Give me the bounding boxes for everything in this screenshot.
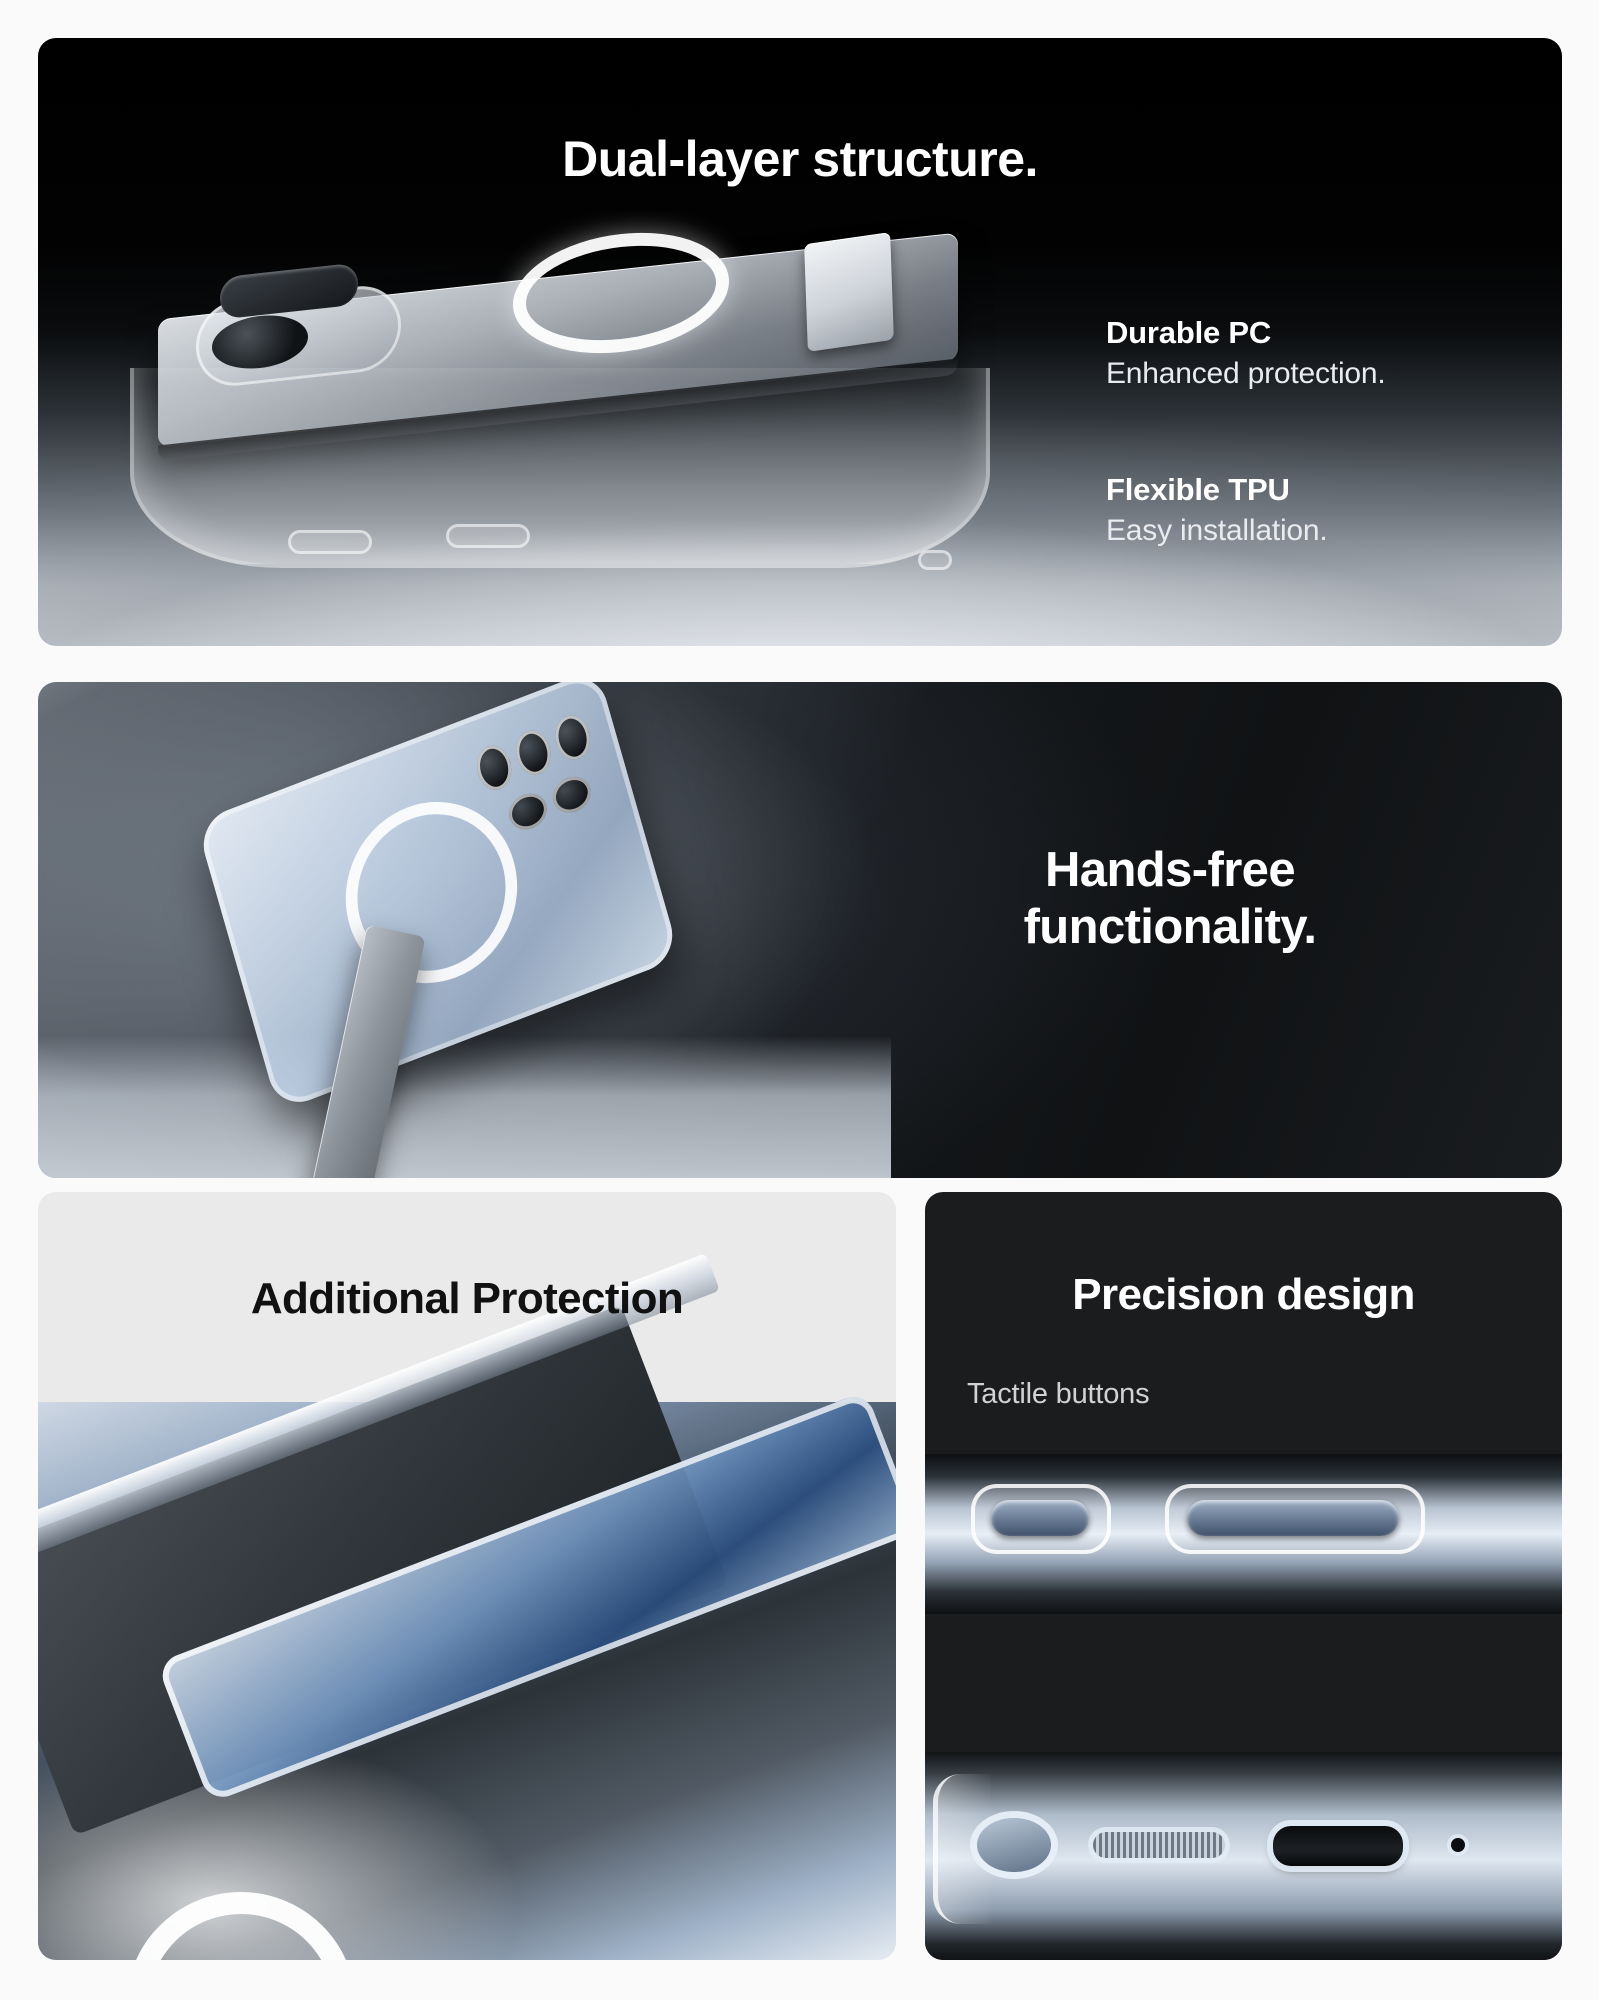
tpu-shell-illustration: [130, 368, 990, 568]
panel-precision-design: Precision design Tactile buttons Easy ac…: [925, 1192, 1562, 1960]
panel-additional-protection-title: Additional Protection: [38, 1274, 896, 1324]
side-cutout-oval: [977, 1818, 1051, 1872]
panel-additional-protection: Additional Protection: [38, 1192, 896, 1960]
feature-durable-pc-heading: Durable PC: [1106, 315, 1386, 352]
tpu-button-cutout-side: [918, 550, 952, 570]
microphone-hole-icon: [1451, 1838, 1465, 1852]
volume-button-illustration: [991, 1500, 1089, 1536]
tpu-button-cutout-power: [446, 524, 530, 548]
headline-line-2: functionality.: [820, 899, 1520, 956]
feature-flexible-tpu-description: Easy installation.: [1106, 513, 1328, 549]
easy-accessibility-photo: [925, 1752, 1562, 1960]
tactile-buttons-photo: [925, 1454, 1562, 1614]
label-tactile-buttons: Tactile buttons: [967, 1378, 1149, 1411]
panel-dual-layer-title: Dual-layer structure.: [38, 130, 1562, 188]
panel-dual-layer-structure: Dual-layer structure. Durable PC Enhance…: [38, 38, 1562, 646]
product-feature-collage: Dual-layer structure. Durable PC Enhance…: [0, 0, 1599, 2000]
tpu-button-cutout-volume: [288, 530, 372, 554]
power-button-illustration: [1187, 1500, 1399, 1536]
kickstand-illustration: [804, 232, 894, 352]
panel-hands-free-headline: Hands-free functionality.: [820, 842, 1520, 956]
panel-precision-design-title: Precision design: [925, 1270, 1562, 1320]
feature-durable-pc: Durable PC Enhanced protection.: [1106, 315, 1386, 392]
surface-shadow: [38, 1036, 891, 1178]
feature-durable-pc-description: Enhanced protection.: [1106, 356, 1386, 392]
panel-hands-free-functionality: Hands-free functionality.: [38, 682, 1562, 1178]
feature-flexible-tpu-heading: Flexible TPU: [1106, 472, 1328, 509]
usb-c-port-cutout: [1273, 1826, 1403, 1866]
feature-flexible-tpu: Flexible TPU Easy installation.: [1106, 472, 1328, 549]
headline-line-1: Hands-free: [820, 842, 1520, 899]
speaker-grille-icon: [1093, 1832, 1225, 1858]
